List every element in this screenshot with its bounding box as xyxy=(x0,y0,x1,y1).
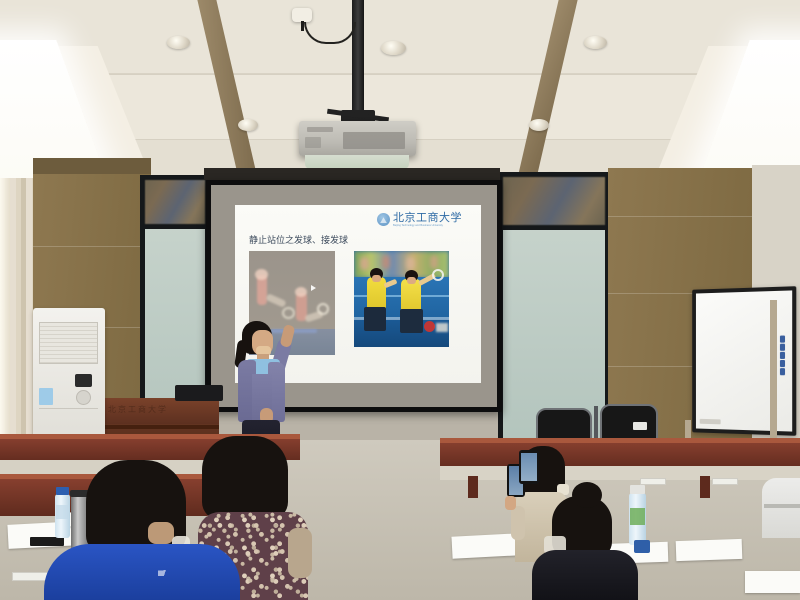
ac-control-dial[interactable] xyxy=(76,390,91,405)
attendee-arm xyxy=(288,528,312,578)
seat-number-plate xyxy=(712,478,738,485)
ac-display-panel[interactable] xyxy=(75,374,92,387)
university-logo-cn: 北京工商大学 xyxy=(393,212,462,223)
university-logo-en: Beijing Technology and Business Universi… xyxy=(393,225,462,228)
shirt-logo xyxy=(158,564,174,576)
whiteboard-marker-tray xyxy=(700,419,721,425)
university-logo: 北京工商大学 Beijing Technology and Business U… xyxy=(377,212,462,228)
attendee-black-top xyxy=(530,480,640,600)
attendee-top xyxy=(532,550,638,600)
bench-divider xyxy=(468,476,478,498)
university-logo-mark xyxy=(377,213,390,226)
projector-label xyxy=(305,137,321,148)
attendee-white-top xyxy=(762,478,800,538)
presenter-hand xyxy=(280,324,296,348)
attendee-ear xyxy=(148,522,174,544)
ceiling-panel xyxy=(0,0,800,74)
window-light xyxy=(0,178,10,478)
smartphone[interactable] xyxy=(519,450,539,484)
recessed-downlight xyxy=(238,119,258,131)
paper-documents[interactable] xyxy=(745,571,800,593)
whiteboard[interactable] xyxy=(692,286,796,436)
slide-image-right xyxy=(354,251,449,347)
lectern-monitor xyxy=(175,385,223,401)
hair-bun xyxy=(572,482,602,508)
whiteboard-stand xyxy=(770,300,777,460)
projector-port-panel xyxy=(343,132,405,149)
paper-documents[interactable] xyxy=(676,539,743,561)
whiteboard-magnet[interactable] xyxy=(780,344,785,351)
lectern-engraving: 北京工商大学 xyxy=(108,404,168,415)
slide-player-left xyxy=(367,277,386,311)
attendee-top xyxy=(762,478,800,538)
desk-shelf xyxy=(440,466,800,480)
ac-grille xyxy=(39,322,98,364)
whiteboard-magnet[interactable] xyxy=(780,360,785,367)
seat-number-plate xyxy=(640,478,666,485)
projector-lens xyxy=(305,155,409,169)
whiteboard-magnet[interactable] xyxy=(780,352,785,359)
recessed-downlight xyxy=(381,41,406,55)
slide-player-right xyxy=(401,279,421,313)
bench-divider xyxy=(700,476,710,498)
screen-valance xyxy=(204,168,500,180)
projector-vent xyxy=(307,127,333,132)
lecture-hall-photo: 北京工商大学 Beijing Technology and Business U… xyxy=(0,0,800,600)
recessed-downlight xyxy=(529,119,549,131)
seat-number-plate xyxy=(12,572,48,581)
ac-energy-label xyxy=(39,388,53,405)
whiteboard-surface[interactable] xyxy=(696,290,792,431)
projector[interactable] xyxy=(299,121,416,156)
whiteboard-magnet[interactable] xyxy=(780,368,785,375)
slide-title: 静止站位之发球、接发球 xyxy=(249,233,348,246)
whiteboard-magnet[interactable] xyxy=(780,336,785,343)
wall-trim xyxy=(33,158,151,174)
desk-edge xyxy=(440,438,800,443)
attendee-arm xyxy=(511,506,525,540)
attendee-hand xyxy=(505,496,516,510)
attendee-blue-shirt xyxy=(44,460,244,600)
transom-window xyxy=(145,180,205,224)
projector-pole xyxy=(352,0,364,114)
recessed-downlight xyxy=(584,36,607,49)
chair-tag xyxy=(633,422,647,430)
smoke-detector xyxy=(292,8,312,22)
desk-row xyxy=(440,440,800,466)
transom-window xyxy=(503,177,605,225)
recessed-downlight xyxy=(167,36,190,49)
phone-screen[interactable] xyxy=(521,453,537,481)
attendee-top xyxy=(44,544,240,600)
